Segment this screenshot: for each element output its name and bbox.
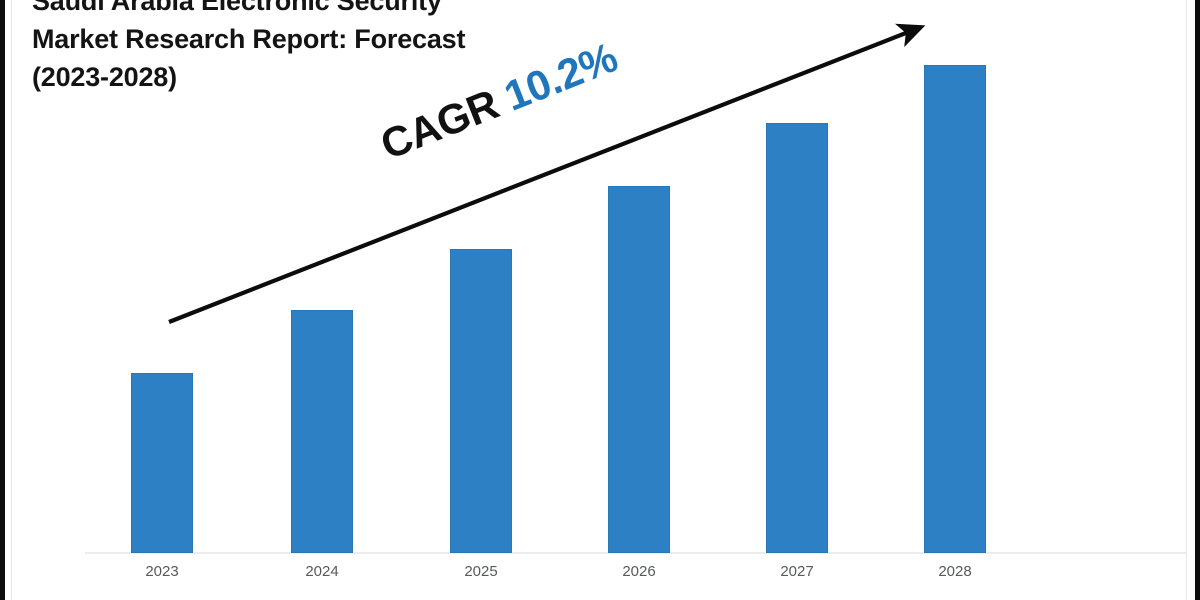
- bar-2025: [450, 249, 512, 553]
- x-tick-label-2028: 2028: [895, 563, 1015, 580]
- bar-2026: [608, 186, 670, 553]
- chart-page: Saudi Arabia Electronic Security Market …: [0, 0, 1200, 600]
- bar-2023: [131, 373, 193, 553]
- bar-2028: [924, 65, 986, 553]
- x-tick-label-2026: 2026: [579, 563, 699, 580]
- bar-2027: [766, 123, 828, 553]
- x-tick-label-2025: 2025: [421, 563, 541, 580]
- x-tick-label-2024: 2024: [262, 563, 382, 580]
- x-tick-label-2023: 2023: [102, 563, 222, 580]
- bar-2024: [291, 310, 353, 553]
- x-tick-label-2027: 2027: [737, 563, 857, 580]
- bar-chart-plot: 202320242025202620272028: [0, 0, 1200, 600]
